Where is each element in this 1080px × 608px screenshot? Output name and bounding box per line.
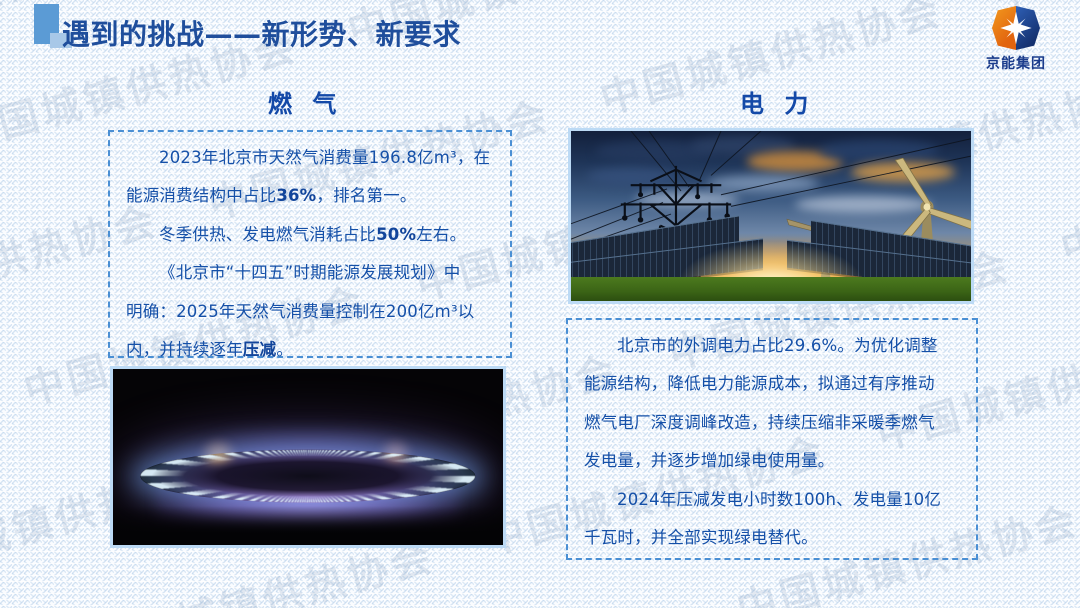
watermark-row: 中国城镇供热协会中国城镇供热协会中国城镇供热协会中国城镇供热协会中国城镇供热协会 [0,567,1080,608]
panel-paragraph: 能源消费结构中占比36%，排名第一。 [126,182,494,210]
logo-starburst-icon [999,11,1033,45]
panel-paragraph: 能源结构，降低电力能源成本，拟通过有序推动 [584,370,960,398]
panel-paragraph: 明确：2025年天然气消费量控制在200亿m³以 [126,298,494,326]
emphasis-text: 50% [376,225,416,244]
emphasis-text: 压减 [243,340,276,359]
gas-text-panel: 2023年北京市天然气消费量196.8亿m³，在能源消费结构中占比36%，排名第… [108,130,512,358]
body-text: 内，并持续逐年 [126,340,243,359]
body-text: 北京市的外调电力占比29.6%。为优化调整 [617,336,938,355]
gas-burner-flame-photo [110,366,506,548]
watermark-text: 中国城镇供热协会 [940,579,1080,608]
body-text: 左右。 [416,225,466,244]
power-grid-renewable-energy-photo [568,128,974,304]
brand-logo: 京能集团 [970,6,1062,73]
body-text: 能源消费结构中占比 [126,186,276,205]
watermark-text: 中国城镇供热协会 [340,603,692,608]
panel-paragraph: 《北京市“十四五”时期能源发展规划》中 [126,259,494,287]
body-text: 能源结构，降低电力能源成本，拟通过有序推动 [584,374,935,393]
slide-root: 中国城镇供热协会中国城镇供热协会中国城镇供热协会中国城镇供热协会中国城镇供热协会… [0,0,1080,608]
panel-paragraph: 2024年压减发电小时数100h、发电量10亿 [584,486,960,514]
flame-base-shadow [113,506,503,545]
body-text: 燃气电厂深度调峰改造，持续压缩非采暖季燃气 [584,413,935,432]
body-text: 2023年北京市天然气消费量196.8亿m³，在 [159,148,490,167]
body-text: 2024年压减发电小时数100h、发电量10亿 [617,490,941,509]
logo-hexagon-icon [992,6,1040,50]
body-text: 。 [276,340,293,359]
section-heading-electricity: 电 力 [740,84,814,119]
body-text: 明确：2025年天然气消费量控制在200亿m³以 [126,302,474,321]
panel-paragraph: 燃气电厂深度调峰改造，持续压缩非采暖季燃气 [584,409,960,437]
grass-field [571,277,971,301]
page-title: 遇到的挑战——新形势、新要求 [62,13,461,53]
section-heading-gas: 燃 气 [268,84,342,119]
flame-jet-array [140,450,475,503]
electricity-text-panel: 北京市的外调电力占比29.6%。为优化调整能源结构，降低电力能源成本，拟通过有序… [566,318,978,560]
panel-paragraph: 冬季供热、发电燃气消耗占比50%左右。 [126,221,494,249]
logo-text: 京能集团 [970,53,1062,73]
body-text: 千瓦时，并全部实现绿电替代。 [584,528,818,547]
panel-paragraph: 北京市的外调电力占比29.6%。为优化调整 [584,332,960,360]
body-text: 《北京市“十四五”时期能源发展规划》中 [159,263,460,282]
watermark-text: 中国城镇供热协会 [1056,138,1080,274]
body-text: 冬季供热、发电燃气消耗占比 [159,225,376,244]
slide-header: 遇到的挑战——新形势、新要求 京能集团 [0,0,1080,64]
body-text: 发电量，并逐步增加绿电使用量。 [584,451,835,470]
panel-paragraph: 内，并持续逐年压减。 [126,336,494,364]
emphasis-text: 36% [276,186,316,205]
panel-paragraph: 千瓦时，并全部实现绿电替代。 [584,524,960,552]
panel-paragraph: 发电量，并逐步增加绿电使用量。 [584,447,960,475]
body-text: ，排名第一。 [316,186,416,205]
panel-paragraph: 2023年北京市天然气消费量196.8亿m³，在 [126,144,494,172]
